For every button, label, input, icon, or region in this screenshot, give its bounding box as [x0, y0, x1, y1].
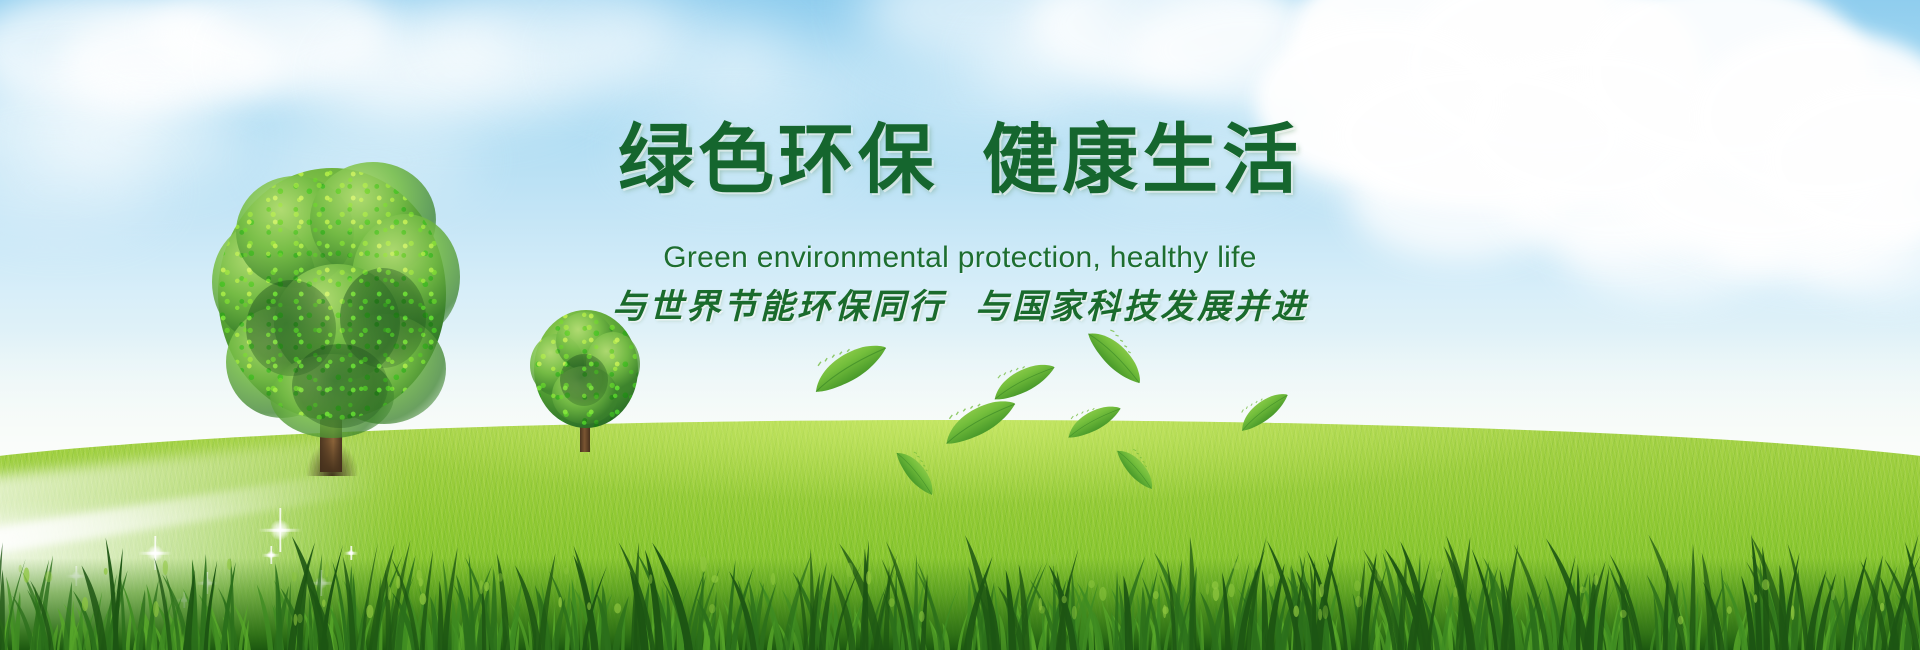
- small-tree: [530, 310, 640, 450]
- foreground-grass: [0, 530, 1920, 650]
- foliage-texture: [218, 168, 446, 420]
- grass-blades: [0, 530, 1920, 650]
- large-tree: [212, 168, 452, 468]
- green-environment-banner: 绿色环保健康生活 Green environmental protection,…: [0, 0, 1920, 650]
- foliage-texture: [534, 310, 638, 428]
